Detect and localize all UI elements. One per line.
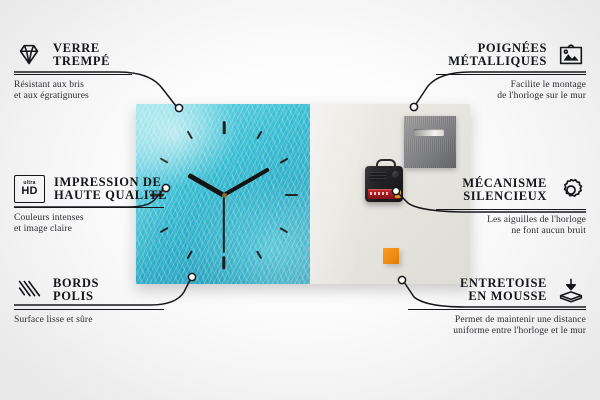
feature-title: BORDS POLIS <box>53 277 99 304</box>
feature-impression-haute-qualite: ultra HD IMPRESSION DE HAUTE QUALITÉ Cou… <box>14 175 224 235</box>
feature-header: POIGNÉES MÉTALLIQUES <box>376 40 586 74</box>
feature-header: MÉCANISME SILENCIEUX <box>376 175 586 209</box>
clock-tick <box>186 130 192 139</box>
feature-description: Couleurs intenses et image claire <box>14 208 224 235</box>
feature-verre-trempe: VERRE TREMPÉ Résistant aux bris et aux é… <box>14 40 224 102</box>
feature-description: Facilite le montage de l'horloge sur le … <box>376 75 586 102</box>
infographic-canvas: VERRE TREMPÉ Résistant aux bris et aux é… <box>0 0 600 400</box>
feature-mecanisme-silencieux: MÉCANISME SILENCIEUX Les aiguilles de l'… <box>376 175 586 237</box>
clock-tick <box>223 256 226 269</box>
clock-tick <box>280 157 289 163</box>
hanging-loop-icon <box>376 159 396 171</box>
foam-spacer <box>383 248 399 264</box>
clock-tick <box>285 194 298 197</box>
clock-tick <box>159 157 168 163</box>
feature-poignees-metalliques: POIGNÉES MÉTALLIQUES Facilite le montage… <box>376 40 586 102</box>
clock-tick <box>280 227 289 233</box>
feature-title: ENTRETOISE EN MOUSSE <box>460 277 547 304</box>
bracket-slot <box>414 129 444 136</box>
clock-tick <box>223 121 226 134</box>
hand-min <box>223 167 270 197</box>
feature-entretoise-en-mousse: ENTRETOISE EN MOUSSE Permet de maintenir… <box>366 275 586 337</box>
feature-bords-polis: BORDS POLIS Surface lisse et sûre <box>14 275 224 325</box>
clock-tick <box>186 251 192 260</box>
feature-title: POIGNÉES MÉTALLIQUES <box>448 42 547 69</box>
feature-header: BORDS POLIS <box>14 275 224 309</box>
ultra-hd-badge-icon: ultra HD <box>14 175 45 203</box>
feature-title: IMPRESSION DE HAUTE QUALITÉ <box>54 176 167 203</box>
feature-header: ENTRETOISE EN MOUSSE <box>366 275 586 309</box>
diamond-icon <box>14 40 44 70</box>
feature-description: Résistant aux bris et aux égratignures <box>14 75 224 102</box>
foam-spacer-arrow-icon <box>556 275 586 305</box>
gear-icon <box>556 175 586 205</box>
feature-title: VERRE TREMPÉ <box>53 42 110 69</box>
wall-hanger-frame-icon <box>556 40 586 70</box>
feature-header: VERRE TREMPÉ <box>14 40 224 74</box>
clock-tick <box>256 251 262 260</box>
metal-bracket <box>404 116 456 168</box>
feature-title: MÉCANISME SILENCIEUX <box>462 177 547 204</box>
feature-description: Surface lisse et sûre <box>14 310 224 325</box>
clock-tick <box>256 130 262 139</box>
feature-description: Permet de maintenir une distance uniform… <box>366 310 586 337</box>
polished-edges-icon <box>14 275 44 305</box>
feature-description: Les aiguilles de l'horloge ne font aucun… <box>376 210 586 237</box>
feature-header: ultra HD IMPRESSION DE HAUTE QUALITÉ <box>14 175 224 207</box>
